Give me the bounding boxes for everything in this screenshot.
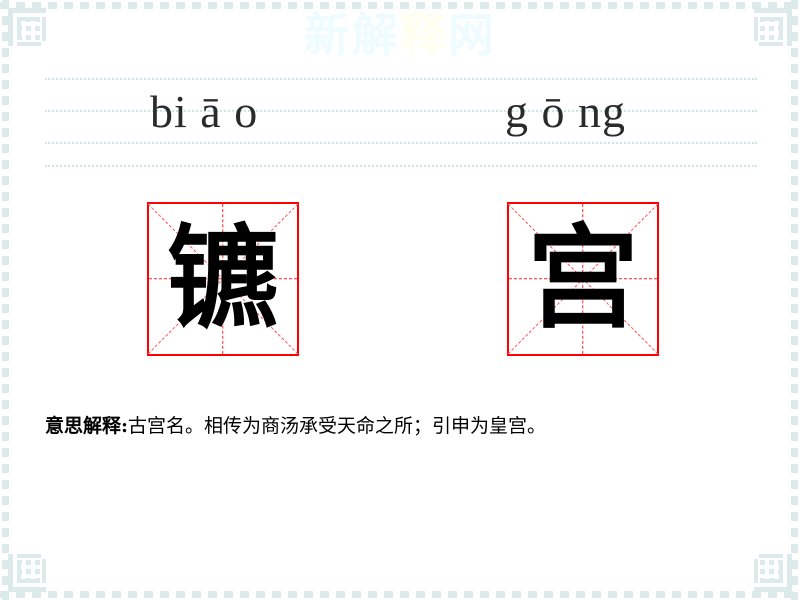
corner-ornament-bottom-right-icon	[738, 538, 796, 596]
corner-ornament-bottom-left-icon	[4, 538, 62, 596]
frame-edge-top	[0, 2, 800, 9]
worksheet-page: 新解释网 bi ā o g ō ng 镳 宫 意思解释:	[0, 0, 800, 600]
meaning-label: 意思解释:	[45, 415, 128, 437]
pinyin-text-right: g ō ng	[505, 85, 626, 138]
frame-edge-bottom	[0, 591, 800, 598]
corner-ornament-top-right-icon	[738, 4, 796, 62]
hanzi-character-2: 宫	[509, 204, 657, 354]
meaning-text: 古宫名。相传为商汤承受天命之所；引申为皇宫。	[128, 415, 546, 437]
character-cell-2: 宫	[507, 202, 659, 356]
meaning-explanation: 意思解释:古宫名。相传为商汤承受天命之所；引申为皇宫。	[45, 412, 755, 441]
pinyin-text-left: bi ā o	[150, 85, 258, 138]
watermark-part-1: 新解	[304, 8, 400, 62]
pinyin-four-line-grid: bi ā o g ō ng	[45, 78, 757, 166]
corner-ornament-top-left-icon	[4, 4, 62, 62]
hanzi-character-1: 镳	[149, 204, 297, 354]
site-watermark: 新解释网	[0, 12, 800, 58]
character-cell-1: 镳	[147, 202, 299, 356]
watermark-part-2: 释	[400, 8, 448, 62]
watermark-part-3: 网	[448, 8, 496, 62]
character-grid-row: 镳 宫	[0, 202, 800, 358]
